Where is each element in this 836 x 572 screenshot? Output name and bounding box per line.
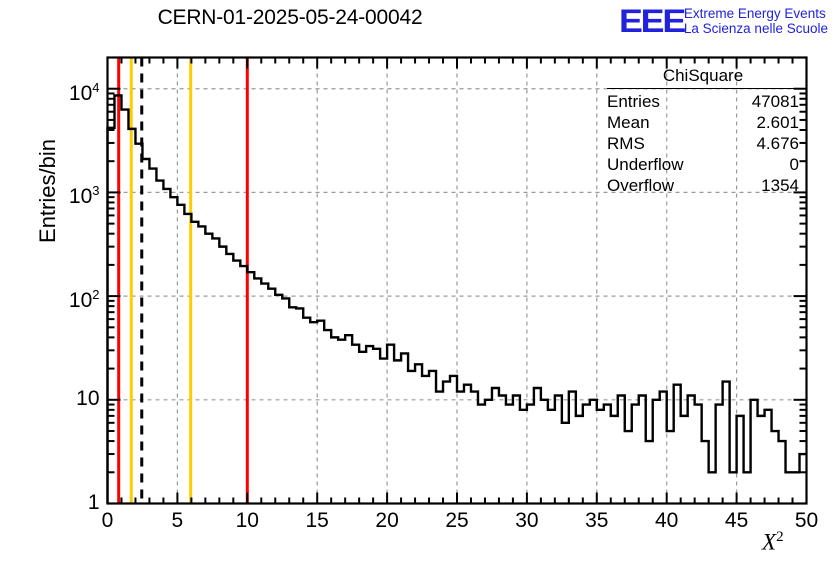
x-tick-label: 45 <box>712 510 762 531</box>
stats-row-key: RMS <box>607 133 645 154</box>
stats-row-value: 2.601 <box>756 112 799 133</box>
y-tick-label: 10 <box>40 388 100 409</box>
y-tick-mantissa: 10 <box>69 82 92 105</box>
stats-row-key: Underflow <box>607 154 684 175</box>
x-tick-label: 25 <box>432 510 482 531</box>
x-tick-label: 30 <box>502 510 552 531</box>
stats-row-key: Mean <box>607 112 650 133</box>
y-tick-exponent: 4 <box>92 80 99 95</box>
y-tick-label: 104 <box>40 77 100 104</box>
stats-row: Underflow0 <box>605 154 801 175</box>
x-tick-label: 5 <box>152 510 202 531</box>
stats-row-value: 47081 <box>752 91 799 112</box>
marker-lines <box>119 58 248 504</box>
y-tick-label: 102 <box>40 284 100 311</box>
stats-row-key: Overflow <box>607 175 674 196</box>
stats-row-value: 1354 <box>761 175 799 196</box>
stats-row-value: 0 <box>790 154 799 175</box>
stats-row: RMS4.676 <box>605 133 801 154</box>
y-tick-mantissa: 10 <box>69 185 92 208</box>
y-tick-label: 103 <box>40 180 100 207</box>
stats-box-rows: Entries47081Mean2.601RMS4.676Underflow0O… <box>605 91 801 196</box>
stats-row: Overflow1354 <box>605 175 801 196</box>
statistics-box: ChiSquare Entries47081Mean2.601RMS4.676U… <box>605 66 801 196</box>
stats-row: Entries47081 <box>605 91 801 112</box>
stats-row-key: Entries <box>607 91 660 112</box>
stats-row-value: 4.676 <box>756 133 799 154</box>
y-tick-exponent: 3 <box>92 183 99 198</box>
x-tick-label: 10 <box>222 510 272 531</box>
x-tick-label: 15 <box>292 510 342 531</box>
stats-box-title: ChiSquare <box>607 66 799 89</box>
x-tick-label: 40 <box>642 510 692 531</box>
x-tick-label: 0 <box>83 510 133 531</box>
x-tick-label: 20 <box>362 510 412 531</box>
x-tick-label: 35 <box>572 510 622 531</box>
y-tick-mantissa: 10 <box>69 289 92 312</box>
plot-canvas: CERN-01-2025-05-24-00042 EEE Extreme Ene… <box>0 0 836 572</box>
stats-row: Mean2.601 <box>605 112 801 133</box>
y-tick-mantissa: 10 <box>76 387 99 410</box>
y-tick-exponent: 2 <box>92 287 99 302</box>
x-tick-label: 50 <box>782 510 832 531</box>
